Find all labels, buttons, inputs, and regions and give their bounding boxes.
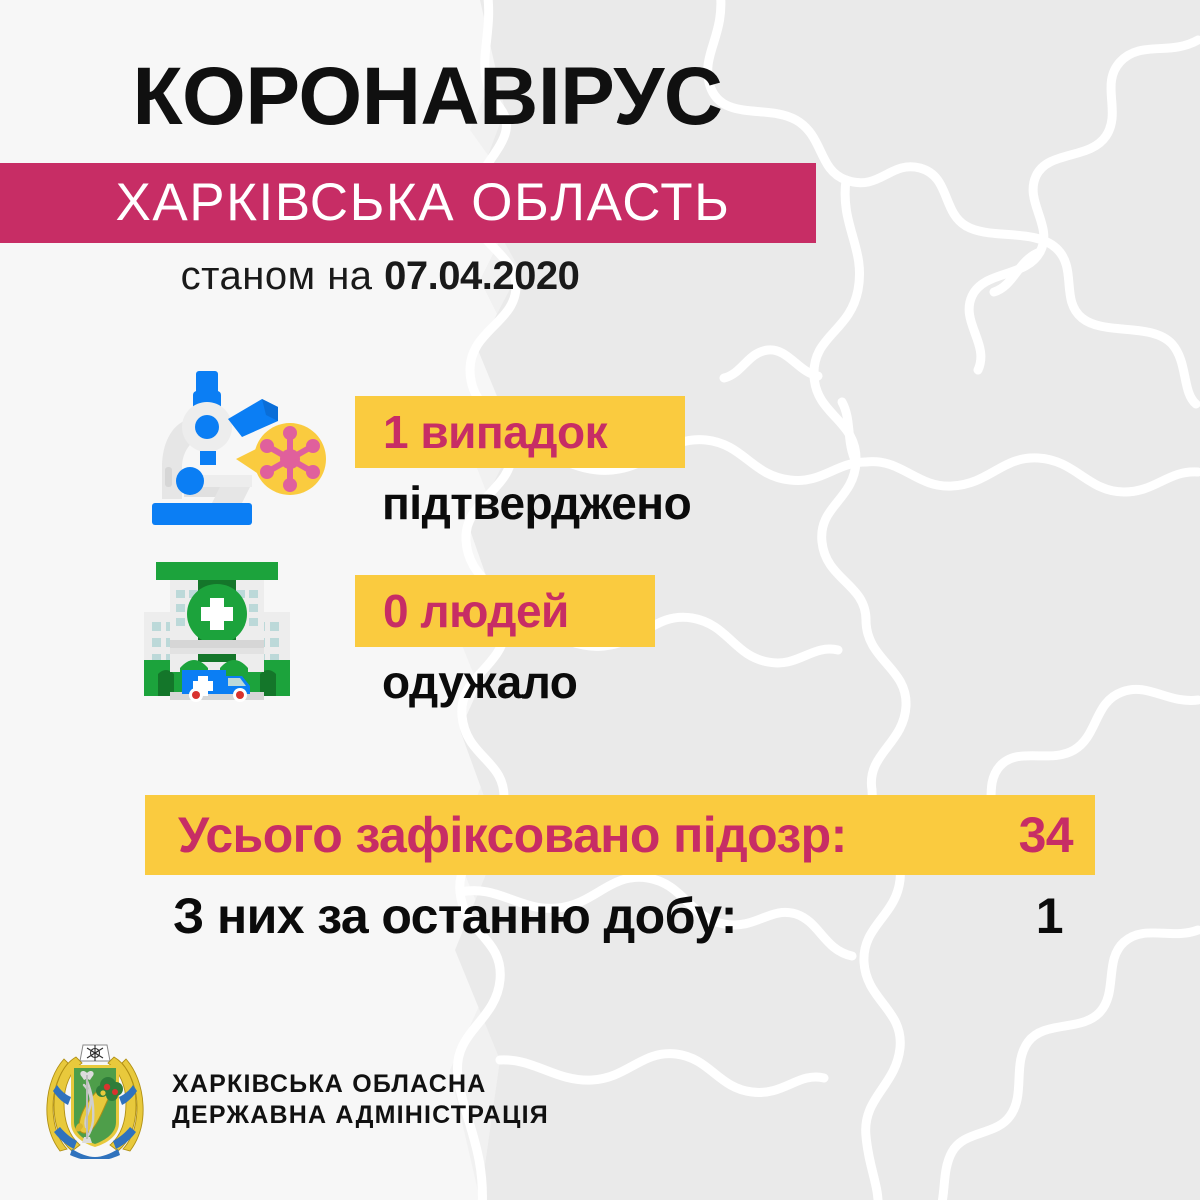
stat-confirmed-value: 1 випадок: [355, 408, 607, 456]
microscope-icon: [138, 363, 328, 533]
kharkiv-coat-of-arms-icon: [46, 1041, 144, 1159]
summary-total-value: 34: [1019, 808, 1073, 862]
summary-daily-label: З них за останню добу:: [173, 889, 737, 943]
footer-line-2: ДЕРЖАВНА АДМІНІСТРАЦІЯ: [172, 1100, 549, 1131]
summary-daily-value: 1: [1036, 889, 1063, 943]
infographic-poster: КОРОНАВІРУС ХАРКІВСЬКА ОБЛАСТЬ станом на…: [0, 0, 1200, 1200]
hospital-icon: [124, 556, 310, 712]
date-value: 07.04.2020: [384, 254, 579, 298]
stat-confirmed-highlight: 1 випадок: [355, 396, 685, 468]
summary-total-label: Усього зафіксовано підозр:: [178, 808, 847, 862]
summary-daily-row: З них за останню добу: 1: [145, 884, 1095, 948]
footer: ХАРКІВСЬКА ОБЛАСНА ДЕРЖАВНА АДМІНІСТРАЦІ…: [46, 1040, 746, 1160]
date-line: станом на 07.04.2020: [0, 253, 760, 299]
stat-recovered-label: одужало: [382, 656, 577, 708]
footer-organization: ХАРКІВСЬКА ОБЛАСНА ДЕРЖАВНА АДМІНІСТРАЦІ…: [172, 1069, 549, 1131]
stat-confirmed-label: підтверджено: [382, 477, 691, 529]
date-lead-label: станом на: [181, 254, 385, 298]
stat-recovered-value: 0 людей: [355, 587, 569, 635]
summary-total-bar: Усього зафіксовано підозр: 34: [145, 795, 1095, 875]
region-banner-label: ХАРКІВСЬКА ОБЛАСТЬ: [0, 175, 816, 231]
page-title: КОРОНАВІРУС: [0, 52, 855, 142]
footer-line-1: ХАРКІВСЬКА ОБЛАСНА: [172, 1069, 549, 1100]
region-banner: ХАРКІВСЬКА ОБЛАСТЬ: [0, 163, 816, 243]
stat-recovered-highlight: 0 людей: [355, 575, 655, 647]
